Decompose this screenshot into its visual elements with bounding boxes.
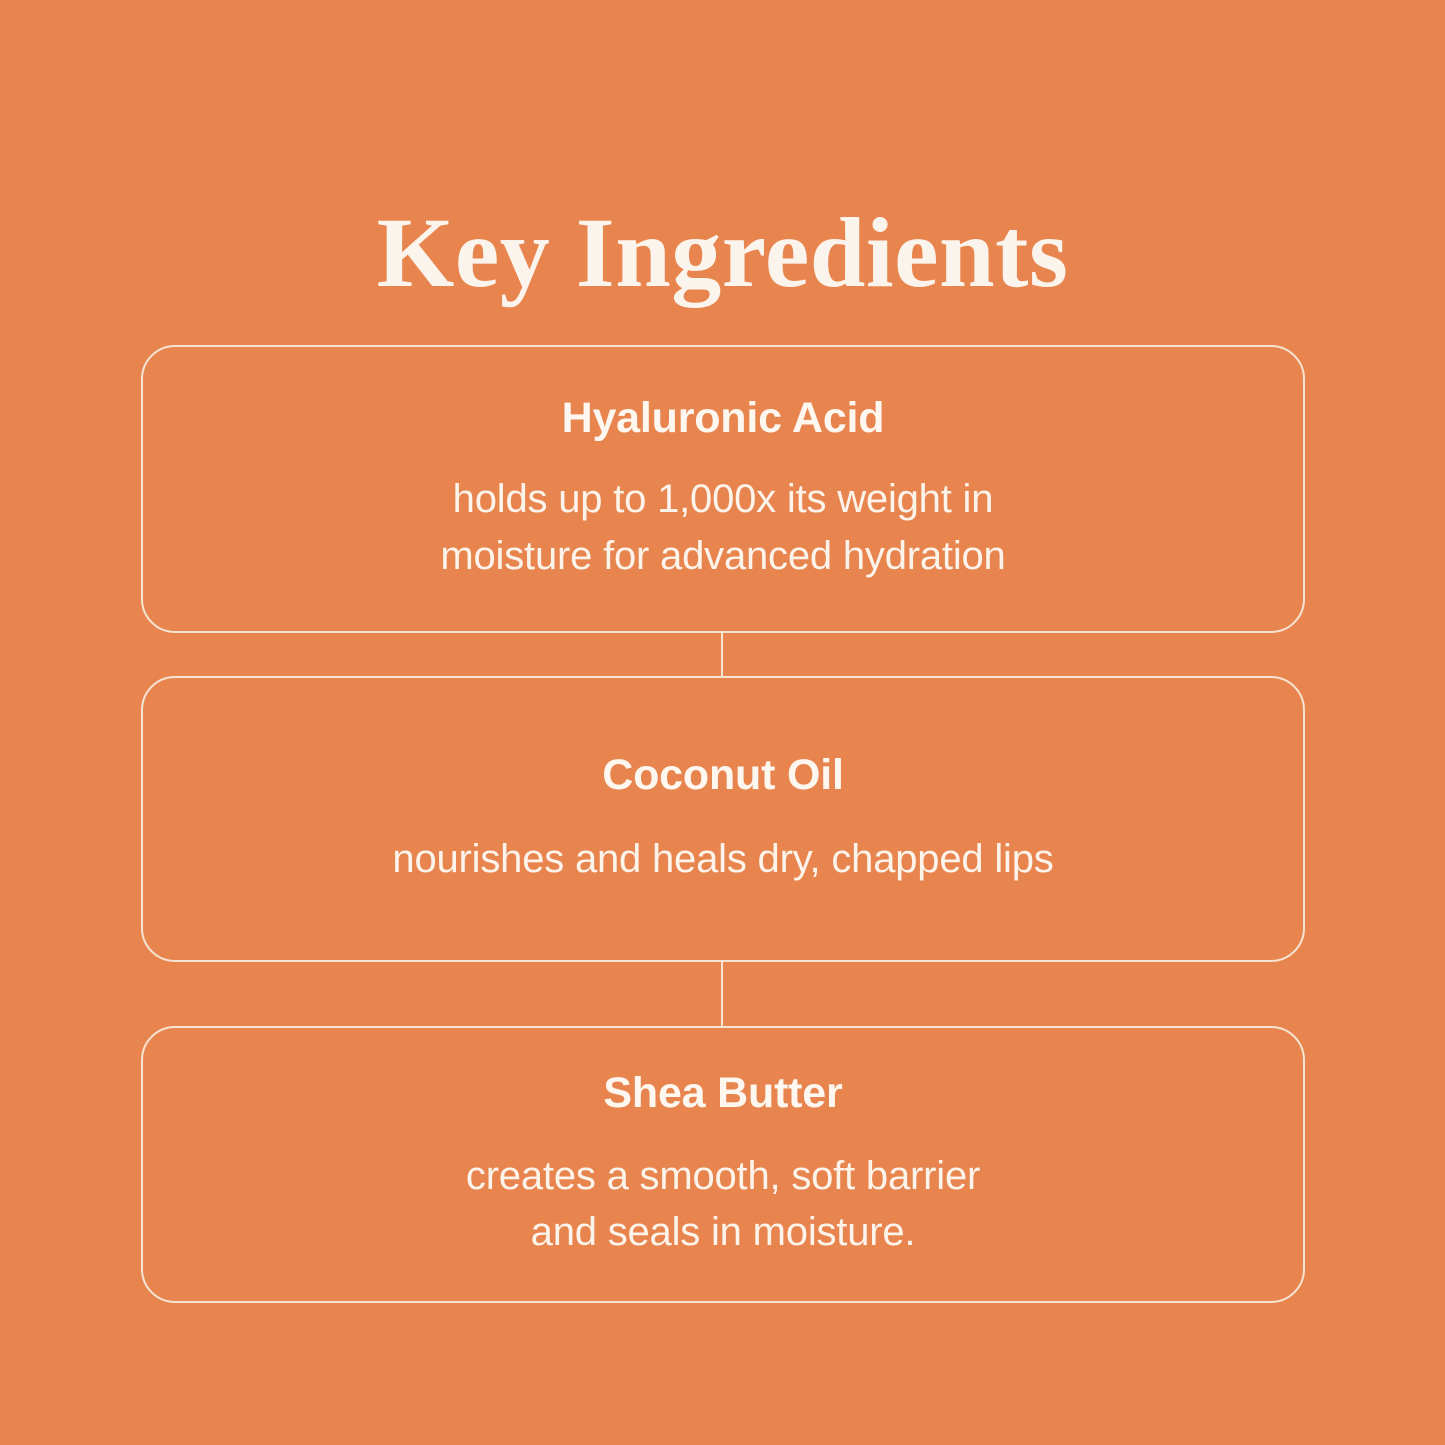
ingredient-title: Shea Butter: [603, 1068, 842, 1120]
ingredient-card-coconut-oil: Coconut Oil nourishes and heals dry, cha…: [141, 676, 1305, 962]
connector-line-2: [721, 962, 723, 1026]
ingredients-infographic: Key Ingredients Hyaluronic Acid holds up…: [0, 0, 1445, 1445]
ingredient-description: nourishes and heals dry, chapped lips: [392, 831, 1053, 888]
ingredient-title: Hyaluronic Acid: [562, 393, 885, 445]
ingredient-card-hyaluronic-acid: Hyaluronic Acid holds up to 1,000x its w…: [141, 345, 1305, 633]
ingredient-title: Coconut Oil: [602, 750, 843, 802]
ingredient-card-shea-butter: Shea Butter creates a smooth, soft barri…: [141, 1026, 1305, 1303]
ingredient-description: holds up to 1,000x its weight in moistur…: [440, 471, 1005, 585]
ingredient-description: creates a smooth, soft barrier and seals…: [466, 1148, 980, 1262]
ingredients-flow: Hyaluronic Acid holds up to 1,000x its w…: [141, 345, 1305, 1303]
page-title: Key Ingredients: [0, 195, 1445, 310]
connector-line-1: [721, 633, 723, 676]
